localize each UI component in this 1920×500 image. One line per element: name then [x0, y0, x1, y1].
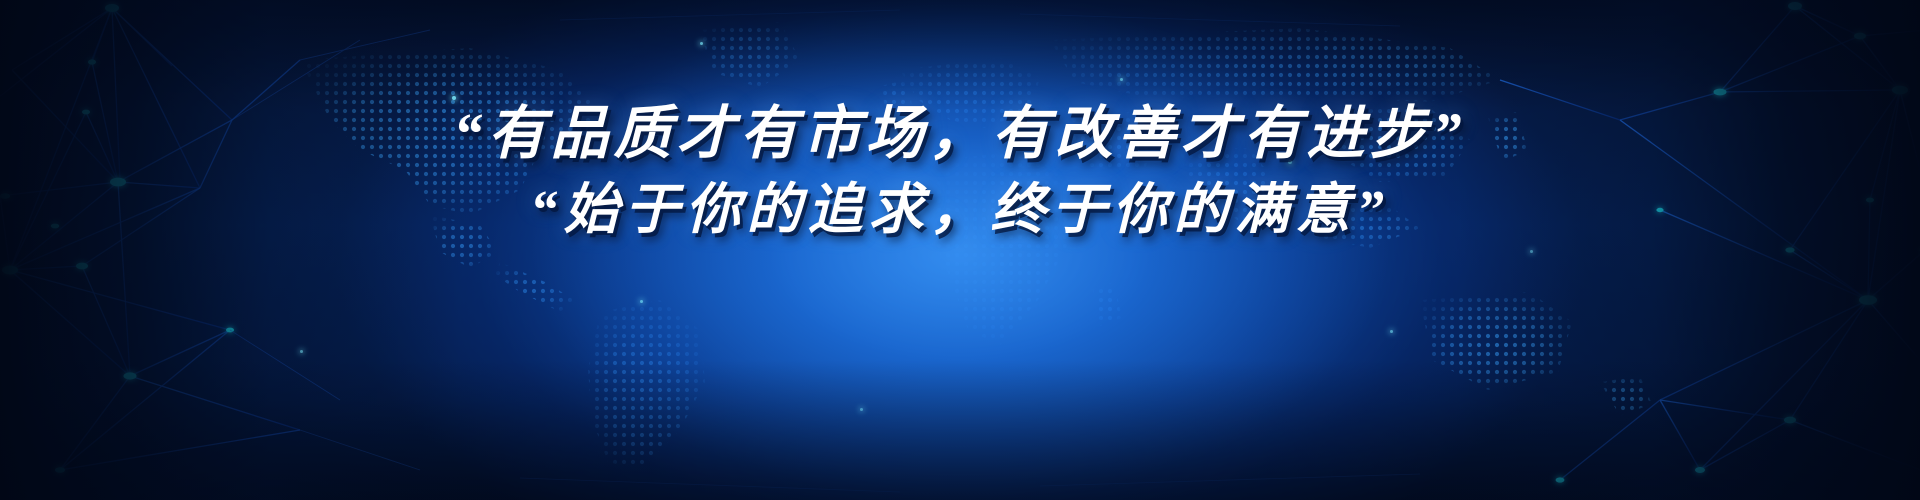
light-speck: [1530, 250, 1533, 253]
background-vignette: [0, 0, 1920, 500]
light-speck: [860, 408, 863, 411]
slogan-headline: “有品质才有市场，有改善才有进步” “始于你的追求，终于你的满意”: [0, 96, 1920, 248]
slogan-line-2: “始于你的追求，终于你的满意”: [0, 172, 1920, 248]
corporate-slogan-banner: “有品质才有市场，有改善才有进步” “始于你的追求，终于你的满意”: [0, 0, 1920, 500]
light-speck: [1390, 330, 1393, 333]
light-speck: [700, 42, 703, 45]
light-speck: [1120, 78, 1123, 81]
slogan-line-1: “有品质才有市场，有改善才有进步”: [0, 96, 1920, 172]
light-speck: [640, 300, 643, 303]
light-speck: [300, 350, 303, 353]
